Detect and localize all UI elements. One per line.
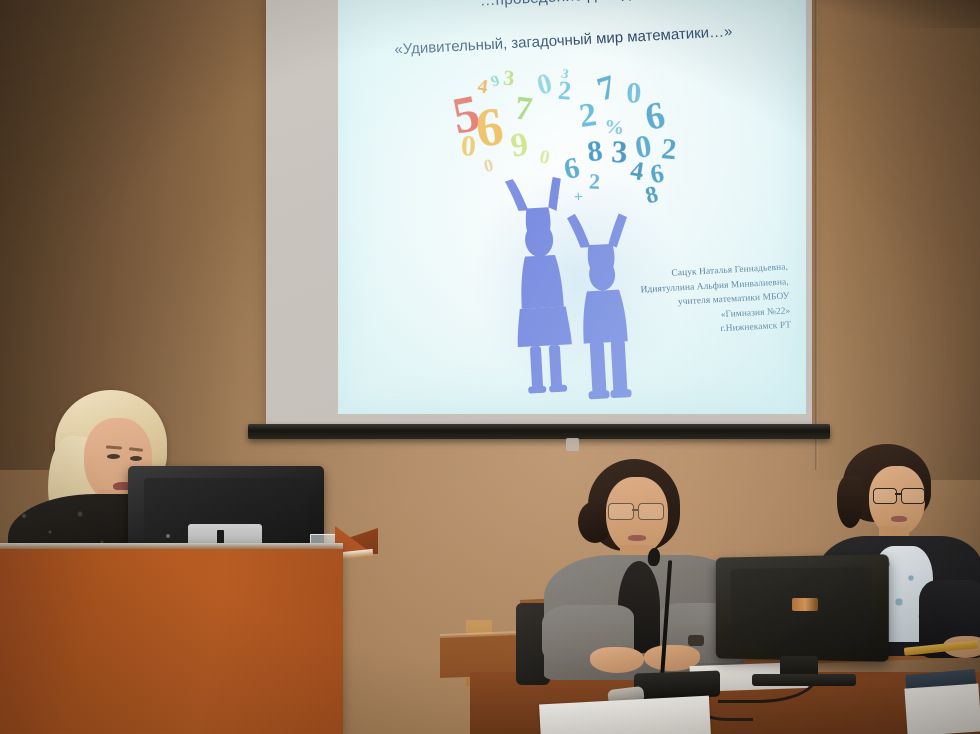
monitor-on-desk (712, 556, 887, 681)
slide-number-glyph: 4 (476, 76, 489, 97)
eyeglasses (606, 503, 668, 519)
mouth (628, 535, 646, 541)
slide-number-glyph: 0 (482, 156, 495, 176)
slide-number-glyph: 6 (473, 99, 506, 156)
slide-title: «Удивительный, загадочный мир математики… (338, 20, 797, 62)
eye-right (130, 456, 142, 461)
projected-slide: …проведение декады «Удивительный, загадо… (338, 0, 806, 414)
monitor-stand-base (752, 674, 856, 686)
slide-number-glyph: 3 (502, 67, 515, 90)
slide-number-glyph: 2 (577, 98, 599, 134)
monitor-logo-sticker (792, 598, 818, 611)
screen-pull-knob[interactable] (566, 438, 579, 451)
lens-right (638, 503, 664, 520)
papers-right (904, 683, 980, 734)
eye-left (107, 454, 120, 459)
projection-screen: …проведение декады «Удивительный, загадо… (266, 0, 812, 446)
screen-weight-bar (248, 424, 830, 439)
eyeglasses (873, 488, 931, 504)
slide-credits: Сацук Наталья Геннадьевна, Идиятуллина А… (588, 260, 792, 343)
slide-number-glyph: 0 (626, 78, 642, 109)
wall-corner-edge (815, 0, 818, 470)
wall-shadow-right (805, 0, 980, 480)
slide-heading-line: …проведение декады (338, 0, 795, 19)
slide-number-glyph: 3 (611, 135, 629, 168)
slide-number-glyph: 0 (538, 147, 552, 169)
wristwatch (688, 635, 704, 646)
slide-content: …проведение декады «Удивительный, загадо… (338, 0, 806, 414)
slide-number-glyph: 0 (534, 70, 555, 101)
slide-number-glyph: 7 (593, 70, 619, 107)
slide-number-glyph: 9 (489, 73, 502, 91)
slide-number-glyph: 0 (460, 131, 476, 162)
slide-number-glyph: 2 (660, 134, 678, 165)
slide-number-glyph: 8 (586, 136, 605, 168)
lens-left (873, 488, 897, 504)
left-hand (590, 647, 644, 673)
hair-side (837, 476, 863, 528)
slide-number-glyph: 9 (508, 128, 530, 164)
glasses-bridge (895, 493, 901, 495)
slide-number-glyph: 7 (513, 92, 534, 128)
podium (0, 549, 343, 734)
photo-scene: …проведение декады «Удивительный, загадо… (0, 0, 980, 734)
mouth (891, 516, 907, 522)
glasses-bridge (632, 509, 638, 511)
ceiling-corner-shadow (812, 0, 980, 28)
lens-left (608, 503, 634, 520)
lens-right (901, 488, 925, 504)
